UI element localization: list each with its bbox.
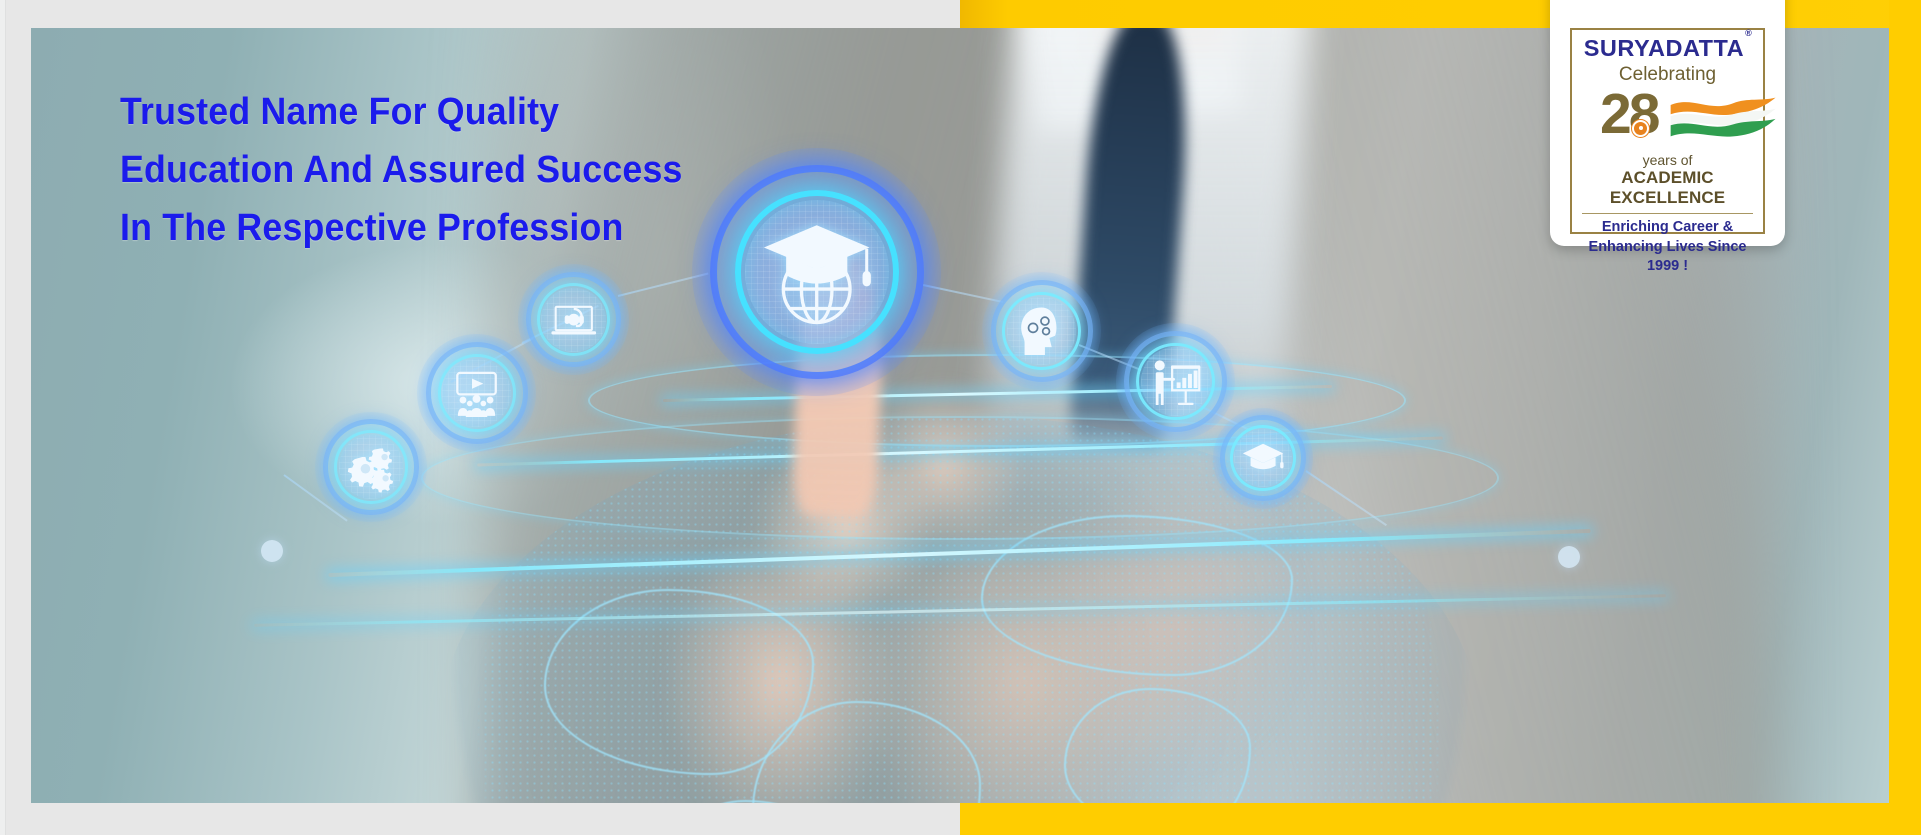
anniversary-mark: 28 xyxy=(1576,90,1759,150)
banner-headline: Trusted Name For Quality Education And A… xyxy=(120,83,853,257)
yellow-border-right xyxy=(1889,0,1921,835)
orbit-ellipse xyxy=(421,416,1499,540)
tagline-line-1: Enriching Career & xyxy=(1576,218,1759,237)
node-webinar[interactable] xyxy=(417,334,536,452)
academic-excellence-label: ACADEMIC EXCELLENCE xyxy=(1576,168,1759,209)
years-number: 28 xyxy=(1600,86,1657,143)
headline-line-1: Trusted Name For Quality xyxy=(120,83,853,141)
institute-name: SURYADATTA® xyxy=(1584,36,1752,61)
video-audience-icon xyxy=(448,365,505,422)
graduation-cap-icon xyxy=(1239,434,1287,482)
node-training[interactable] xyxy=(1116,323,1235,441)
link-endpoint-dot xyxy=(1558,546,1580,568)
link-endpoint-dot xyxy=(261,540,283,562)
indian-flag-ribbon-icon xyxy=(1668,94,1780,140)
years-of-label: years of xyxy=(1576,152,1759,168)
headline-line-3: In The Respective Profession xyxy=(120,199,853,257)
node-skills[interactable] xyxy=(315,412,426,523)
suryadatta-logo-badge[interactable]: SURYADATTA® Celebrating 28 years of ACAD… xyxy=(1550,0,1785,246)
badge-divider xyxy=(1582,213,1753,214)
ashoka-chakra-icon xyxy=(1632,120,1649,137)
node-knowledge[interactable] xyxy=(982,272,1101,390)
page-root: Trusted Name For Quality Education And A… xyxy=(0,0,1921,835)
yellow-border-bottom xyxy=(960,800,1921,835)
gears-icon xyxy=(344,440,398,493)
head-gears-icon xyxy=(1013,303,1070,360)
tagline-line-2: Enhancing Lives Since 1999 ! xyxy=(1576,238,1759,276)
badge-frame: SURYADATTA® Celebrating 28 years of ACAD… xyxy=(1570,28,1765,234)
laptop-headset-icon xyxy=(547,293,601,346)
headline-line-2: Education And Assured Success xyxy=(120,141,853,199)
node-online-learning[interactable] xyxy=(518,264,629,375)
node-degree[interactable] xyxy=(1213,408,1313,509)
trademark-symbol: ® xyxy=(1745,28,1752,38)
presenter-chart-icon xyxy=(1147,353,1204,410)
left-gutter xyxy=(0,0,6,835)
institute-name-text: SURYADATTA xyxy=(1584,35,1744,61)
